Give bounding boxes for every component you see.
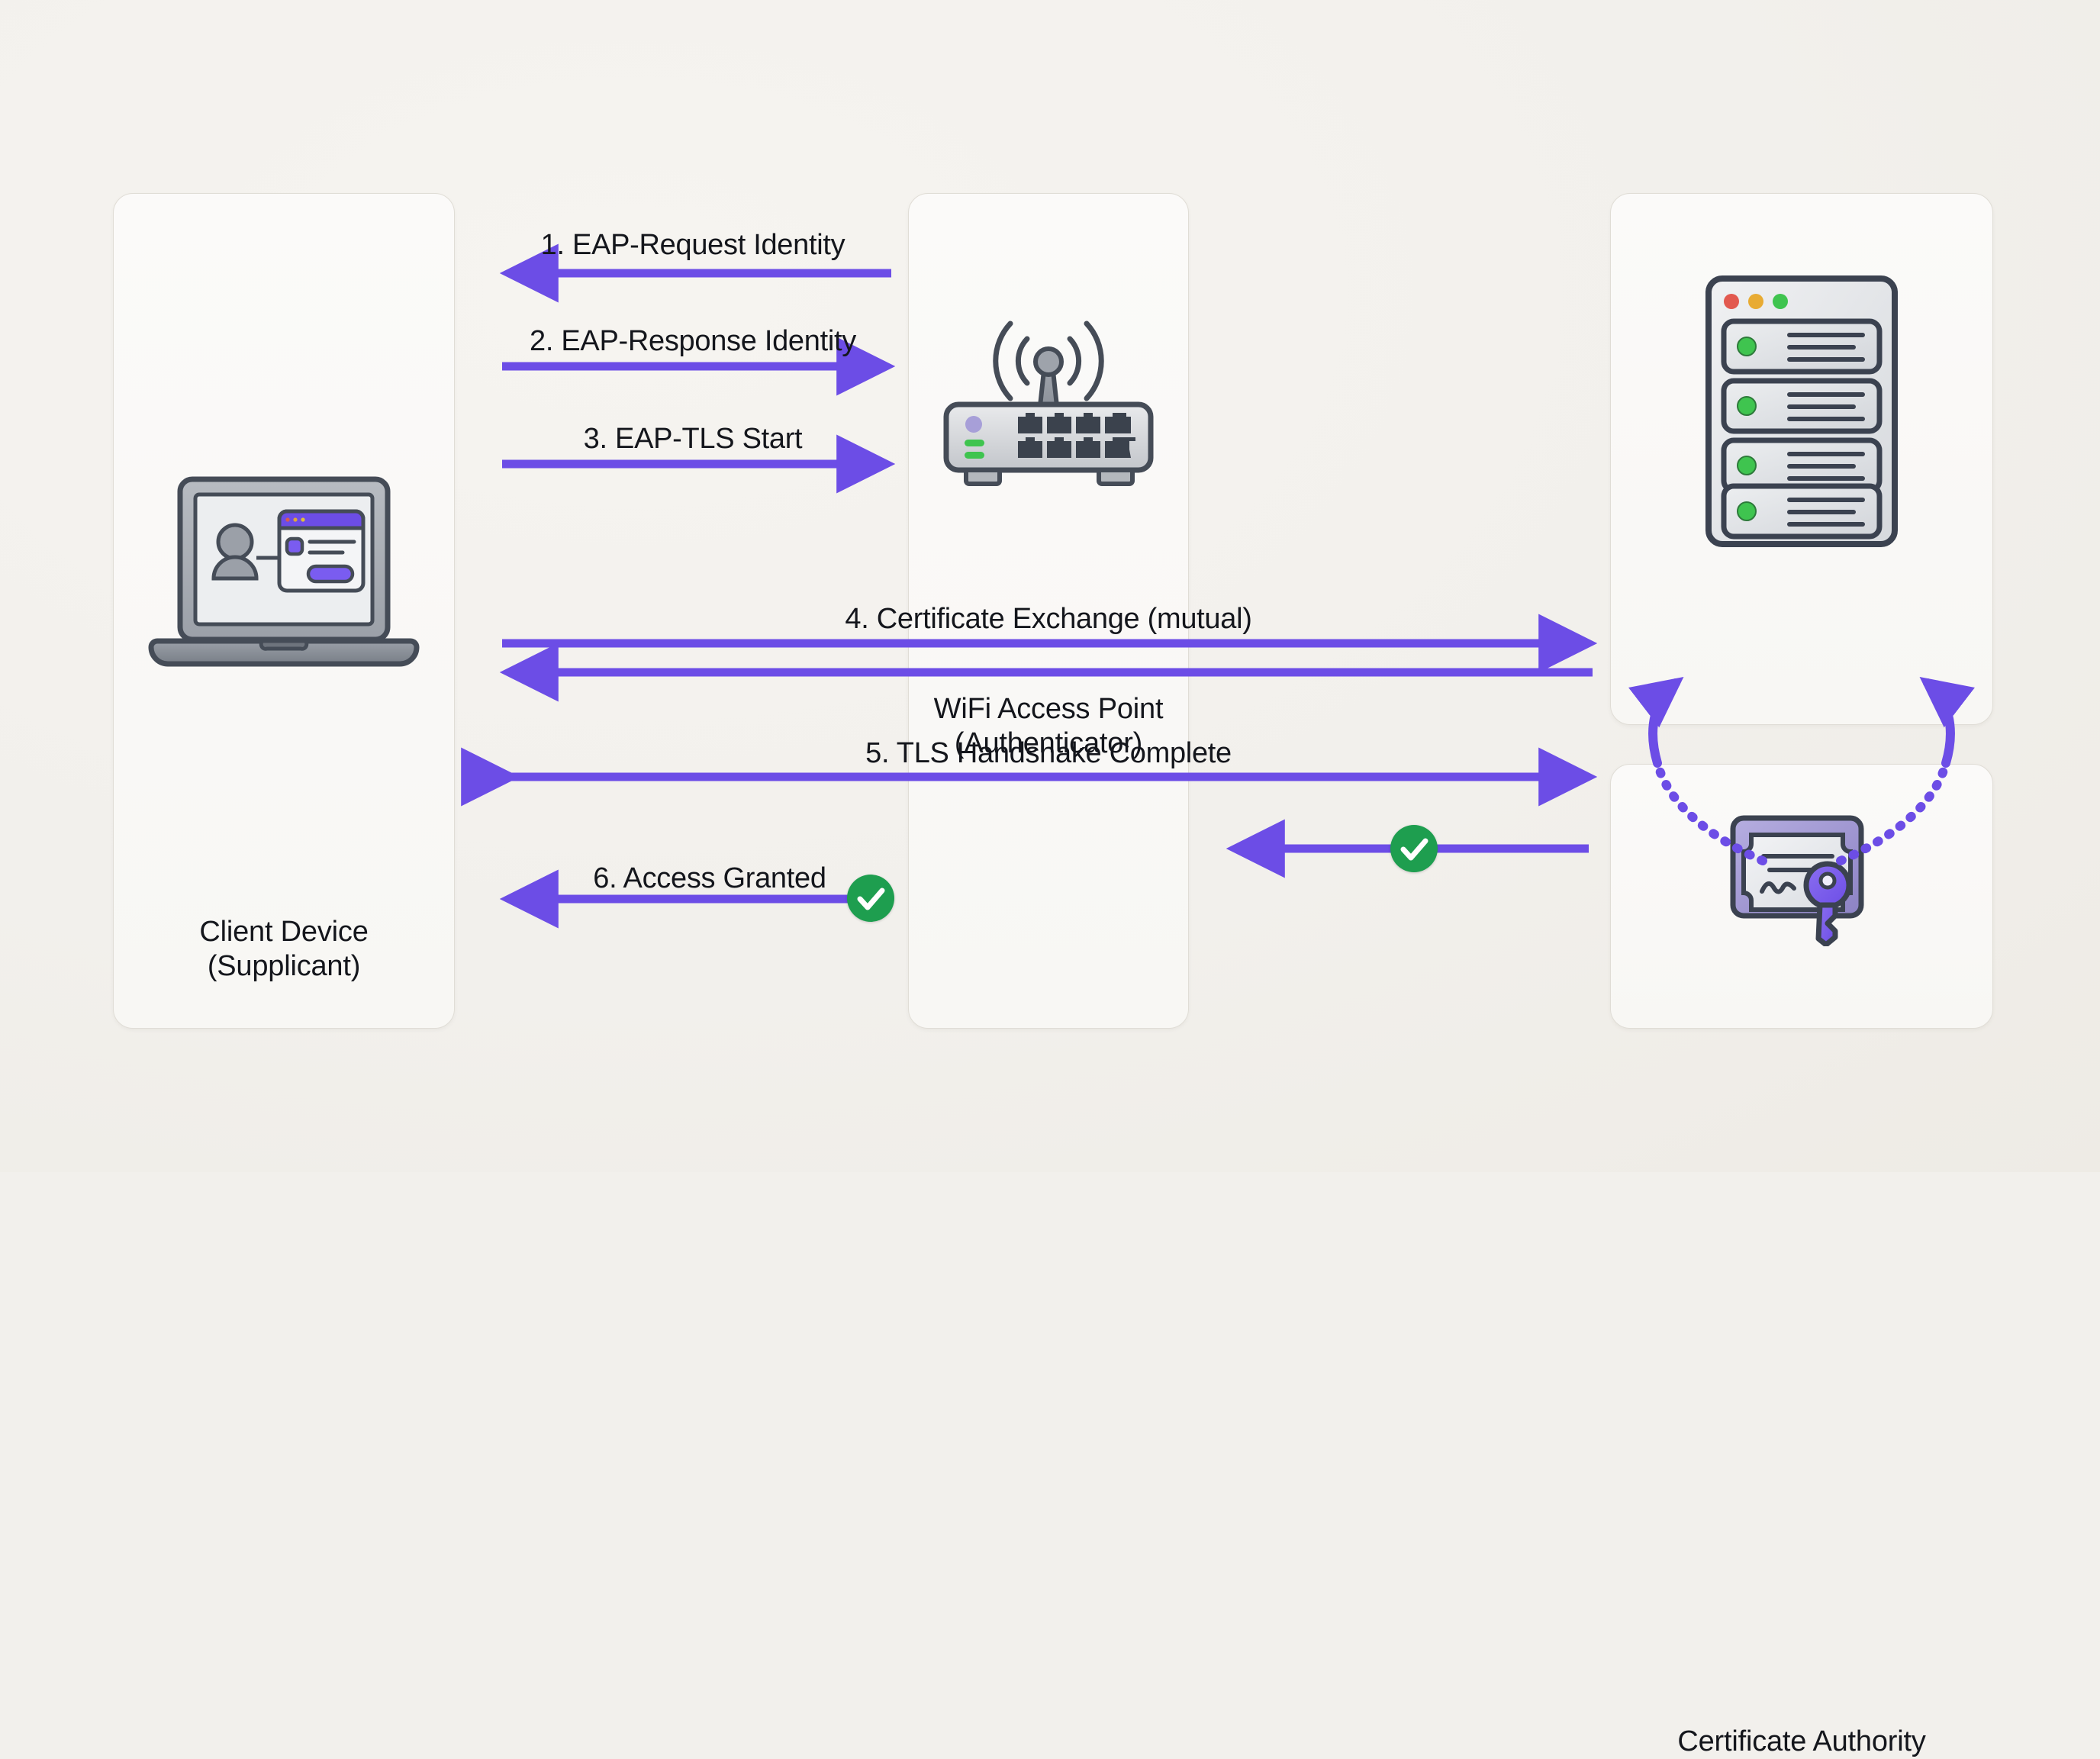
diagram-canvas: Client Device (Supplicant)	[0, 0, 2100, 1172]
step-label-6: 6. Access Granted	[593, 864, 826, 893]
node-certificate-authority[interactable]: Certificate Authority	[1610, 764, 1993, 1029]
wifi-router-icon	[929, 263, 1168, 491]
laptop-user-login-icon	[134, 469, 433, 697]
step-label-1: 1. EAP-Request Identity	[541, 230, 845, 259]
step-label-2: 2. EAP-Response Identity	[530, 327, 856, 356]
node-client-device[interactable]: Client Device (Supplicant)	[113, 193, 455, 1029]
step-label-3: 3. EAP-TLS Start	[584, 424, 803, 453]
step-label-4: 4. Certificate Exchange (mutual)	[845, 604, 1251, 633]
node-certificate-authority-label: Certificate Authority	[1611, 1725, 1992, 1759]
node-client-device-label: Client Device (Supplicant)	[114, 915, 454, 984]
server-rack-icon	[1704, 274, 1899, 549]
step-label-5: 5. TLS Handshake Complete	[865, 739, 1232, 768]
node-radius-server[interactable]: RADIUS Server (Authentication Server)	[1610, 193, 1993, 725]
check-circle-icon-ca-validated	[1390, 825, 1438, 872]
check-circle-icon-access-granted	[847, 875, 894, 922]
certificate-key-icon	[1725, 809, 1878, 946]
